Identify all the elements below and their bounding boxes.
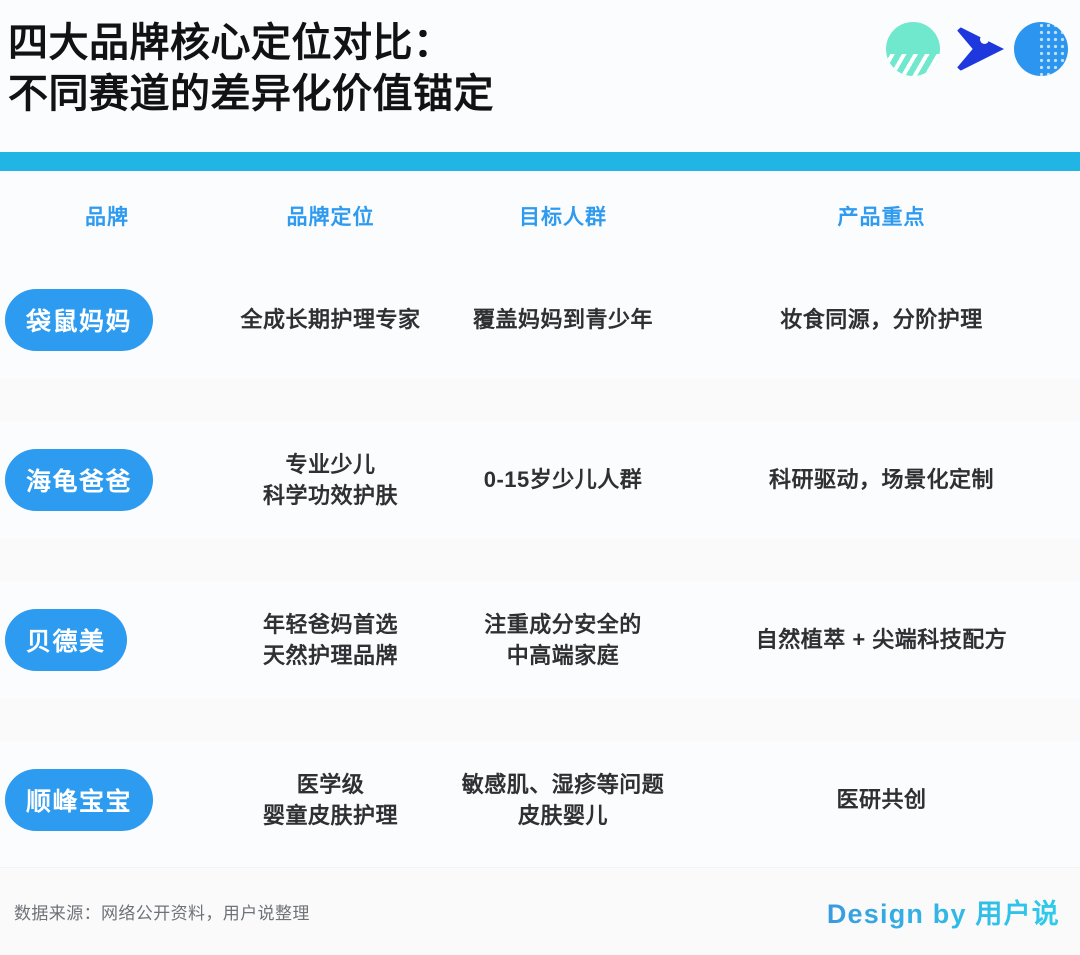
focus-cell: 自然植萃 + 尖端科技配方 [683,624,1080,655]
accent-divider-bar [0,152,1080,171]
focus-value: 自然植萃 + 尖端科技配方 [756,627,1008,652]
blue-pacman-icon [950,22,1004,76]
brand-logo [886,22,1068,76]
brand-cell: 贝德美 [0,609,218,671]
table-row: 海龟爸爸 专业少儿 科学功效护肤 0-15岁少儿人群 科研驱动，场景化定制 [0,421,1080,539]
audience-value: 覆盖妈妈到青少年 [473,307,653,332]
audience-cell: 注重成分安全的 中高端家庭 [443,609,683,671]
position-cell: 全成长期护理专家 [218,304,443,335]
dot-grid-pattern [1038,22,1068,76]
row-separator-band [0,699,1080,741]
audience-value: 0-15岁少儿人群 [484,467,643,492]
audience-value: 敏感肌、湿疹等问题 皮肤婴儿 [462,772,665,828]
comparison-table: 品牌 品牌定位 目标人群 产品重点 袋鼠妈妈 全成长期护理专家 覆盖妈妈到青少年… [0,171,1080,859]
pacman-body [950,22,1004,76]
focus-cell: 科研驱动，场景化定制 [683,464,1080,495]
position-value: 年轻爸妈首选 天然护理品牌 [263,612,398,668]
brand-cell: 海龟爸爸 [0,449,218,511]
position-cell: 医学级 婴童皮肤护理 [218,769,443,831]
footer: 数据来源：网络公开资料，用户说整理 Design by 用户说 [0,867,1080,955]
column-header-brand: 品牌 [0,201,218,231]
table-row: 袋鼠妈妈 全成长期护理专家 覆盖妈妈到青少年 妆食同源，分阶护理 [0,261,1080,379]
focus-value: 妆食同源，分阶护理 [780,307,983,332]
audience-value: 注重成分安全的 中高端家庭 [484,612,642,668]
focus-value: 科研驱动，场景化定制 [769,467,994,492]
data-source-label: 数据来源：网络公开资料，用户说整理 [14,899,310,924]
row-separator-band [0,539,1080,581]
column-header-audience: 目标人群 [443,201,683,231]
audience-cell: 覆盖妈妈到青少年 [443,304,683,335]
row-separator-band [0,379,1080,421]
brand-cell: 袋鼠妈妈 [0,289,218,351]
focus-cell: 医研共创 [683,784,1080,815]
header: 四大品牌核心定位对比： 不同赛道的差异化价值锚定 [0,0,1080,152]
status-badge[interactable]: 顺峰宝宝 [5,769,153,831]
table-row: 贝德美 年轻爸妈首选 天然护理品牌 注重成分安全的 中高端家庭 自然植萃 + 尖… [0,581,1080,699]
position-value: 全成长期护理专家 [240,307,420,332]
column-header-focus: 产品重点 [683,201,1080,231]
status-badge[interactable]: 袋鼠妈妈 [5,289,153,351]
focus-cell: 妆食同源，分阶护理 [683,304,1080,335]
position-cell: 年轻爸妈首选 天然护理品牌 [218,609,443,671]
mint-striped-circle-icon [886,22,940,76]
column-header-position: 品牌定位 [218,201,443,231]
brand-cell: 顺峰宝宝 [0,769,218,831]
position-value: 专业少儿 科学功效护肤 [263,452,398,508]
pacman-eye-dot [980,35,989,44]
blue-dotted-circle-icon [1014,22,1068,76]
focus-value: 医研共创 [836,787,926,812]
position-cell: 专业少儿 科学功效护肤 [218,449,443,511]
audience-cell: 敏感肌、湿疹等问题 皮肤婴儿 [443,769,683,831]
audience-cell: 0-15岁少儿人群 [443,464,683,495]
design-credit-label: Design by 用户说 [827,892,1060,931]
table-row: 顺峰宝宝 医学级 婴童皮肤护理 敏感肌、湿疹等问题 皮肤婴儿 医研共创 [0,741,1080,859]
status-badge[interactable]: 海龟爸爸 [5,449,153,511]
diagonal-stripes-pattern [886,54,940,76]
position-value: 医学级 婴童皮肤护理 [263,772,398,828]
table-header-row: 品牌 品牌定位 目标人群 产品重点 [0,171,1080,261]
infographic-page: 四大品牌核心定位对比： 不同赛道的差异化价值锚定 品牌 品牌定位 目标人群 产品… [0,0,1080,955]
status-badge[interactable]: 贝德美 [5,609,127,671]
